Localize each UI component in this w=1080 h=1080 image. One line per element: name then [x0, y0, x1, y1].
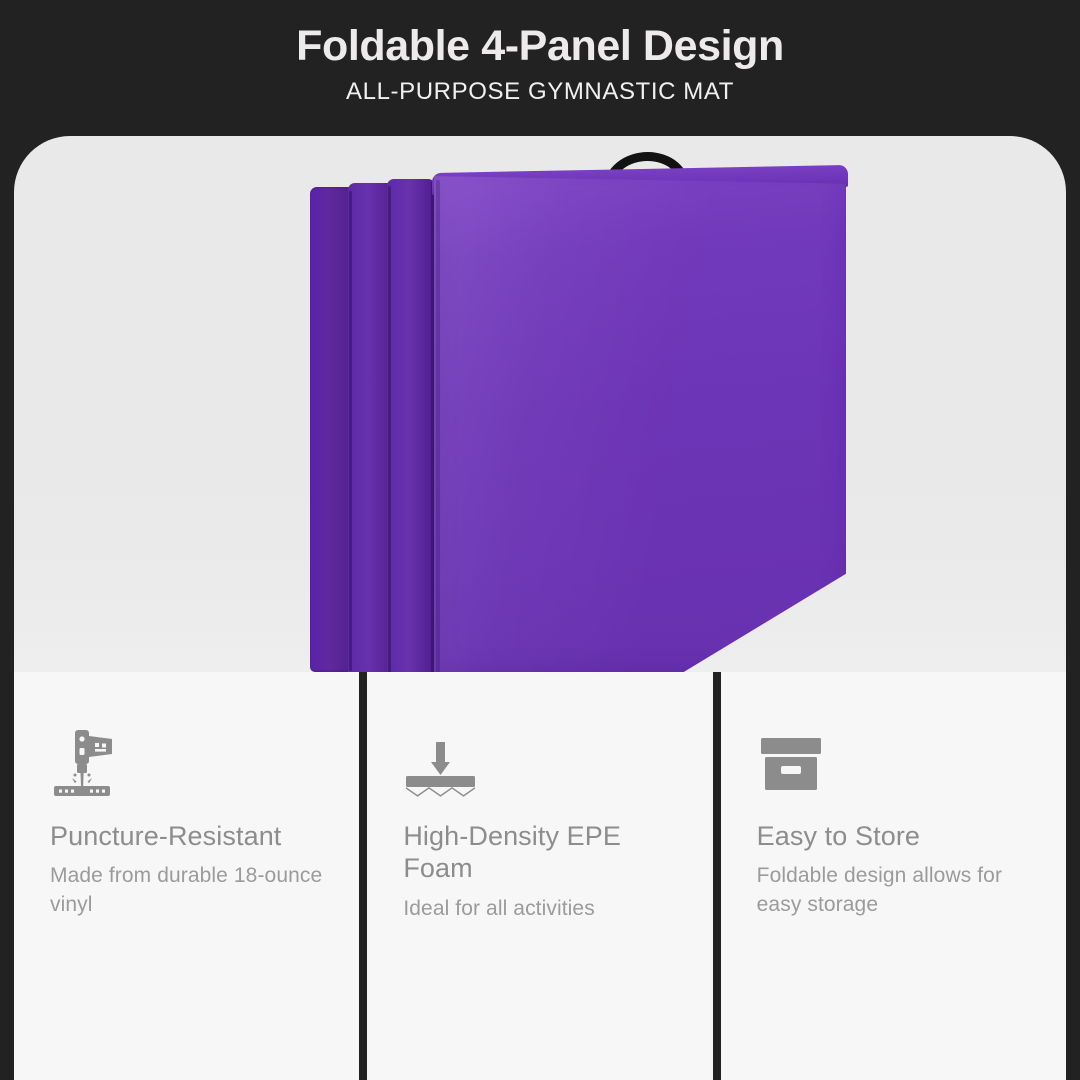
header-banner: Foldable 4-Panel Design ALL-PURPOSE GYMN…	[0, 0, 1080, 140]
mat-seam-2	[388, 186, 391, 672]
storage-box-icon	[757, 712, 1030, 798]
feature-card-description: Ideal for all activities	[403, 895, 676, 923]
product-hero-panel	[14, 136, 1066, 672]
mat-fold-panel-3	[387, 179, 435, 672]
mat-face-highlight	[434, 176, 846, 672]
feature-card-row: Puncture-Resistant Made from durable 18-…	[14, 672, 1066, 1080]
puncture-needle-icon	[50, 712, 323, 798]
feature-card-description: Foldable design allows for easy storage	[757, 862, 1030, 919]
mat-front-face	[434, 176, 846, 672]
product-image-folded-mat	[286, 146, 846, 672]
infographic-canvas: Foldable 4-Panel Design ALL-PURPOSE GYMN…	[0, 0, 1080, 1080]
mat-seam-3	[431, 182, 434, 672]
feature-card-title: High-Density EPE Foam	[403, 820, 676, 885]
page-subtitle: ALL-PURPOSE GYMNASTIC MAT	[0, 70, 1080, 105]
page-title: Foldable 4-Panel Design	[0, 0, 1080, 70]
feature-card-high-density-foam: High-Density EPE Foam Ideal for all acti…	[367, 672, 712, 1080]
mat-fold-crease	[436, 180, 440, 672]
feature-card-easy-to-store: Easy to Store Foldable design allows for…	[721, 672, 1066, 1080]
feature-card-title: Puncture-Resistant	[50, 820, 323, 852]
feature-card-puncture-resistant: Puncture-Resistant Made from durable 18-…	[14, 672, 359, 1080]
feature-card-description: Made from durable 18-ounce vinyl	[50, 862, 323, 919]
foam-compression-icon	[403, 712, 676, 798]
feature-card-title: Easy to Store	[757, 820, 1030, 852]
mat-seam-1	[349, 191, 352, 671]
